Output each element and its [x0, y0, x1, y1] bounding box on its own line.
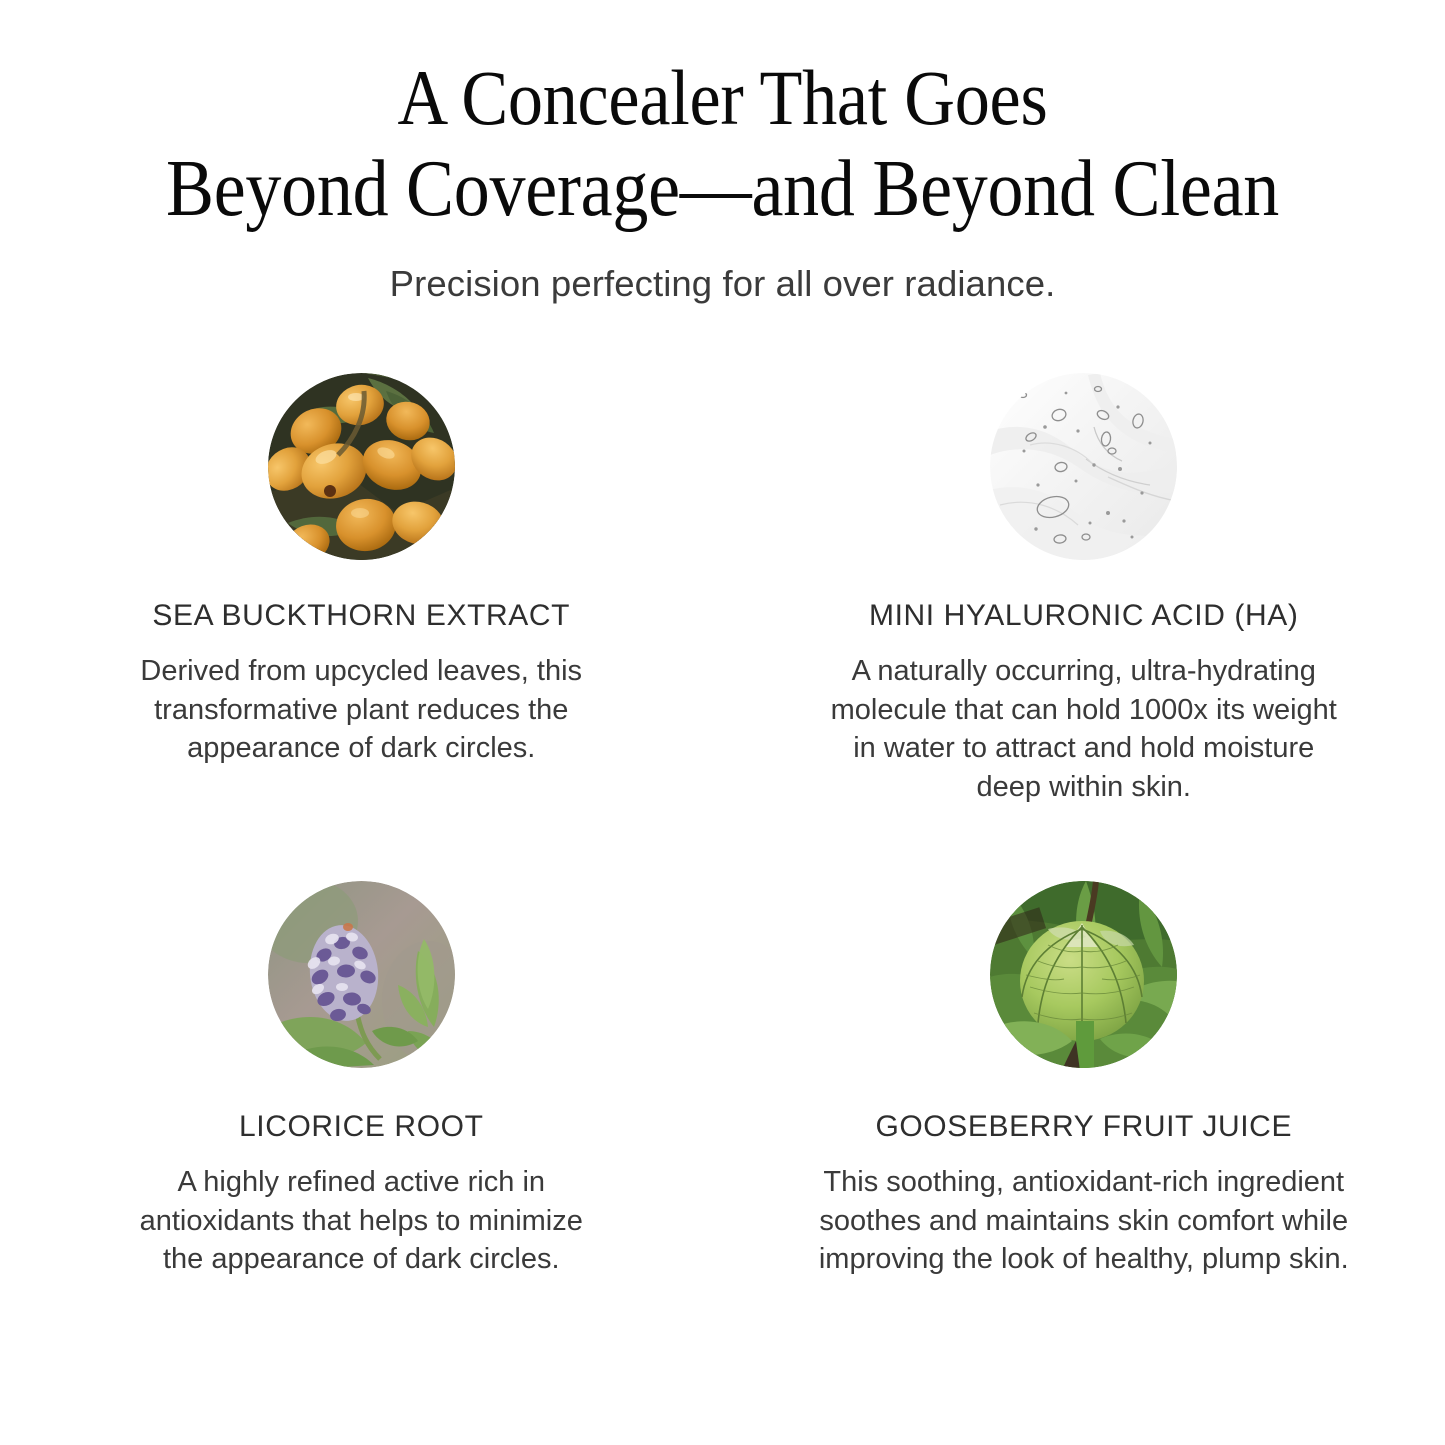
ingredient-description: A highly refined active rich in antioxid…	[126, 1144, 596, 1279]
page-title: A Concealer That Goes Beyond Coverage—an…	[72, 52, 1373, 237]
sea-buckthorn-berries-photo-icon	[268, 373, 455, 560]
page-subtitle: Precision perfecting for all over radian…	[0, 237, 1445, 305]
headline-line-2: Beyond Coverage—and Beyond Clean	[72, 143, 1373, 237]
ingredient-benefits-page: A Concealer That Goes Beyond Coverage—an…	[0, 0, 1445, 1445]
ingredient-title: SEA BUCKTHORN EXTRACT	[152, 560, 570, 633]
ingredient-card-sea-buckthorn: SEA BUCKTHORN EXTRACT Derived from upcyc…	[0, 373, 723, 881]
licorice-root-flower-photo-icon	[268, 881, 455, 1068]
ingredient-description: This soothing, antioxidant-rich ingredie…	[811, 1144, 1356, 1279]
gooseberry-fruit-photo-icon	[990, 881, 1177, 1068]
ingredient-card-hyaluronic-acid: MINI HYALURONIC ACID (HA) A naturally oc…	[723, 373, 1445, 881]
ingredient-grid: SEA BUCKTHORN EXTRACT Derived from upcyc…	[0, 373, 1445, 1279]
hyaluronic-acid-gel-texture-photo-icon	[990, 373, 1177, 560]
ingredient-title: LICORICE ROOT	[239, 1068, 484, 1144]
ingredient-card-licorice-root: LICORICE ROOT A highly refined active ri…	[0, 881, 723, 1279]
ingredient-card-gooseberry: GOOSEBERRY FRUIT JUICE This soothing, an…	[723, 881, 1445, 1279]
ingredient-description: Derived from upcycled leaves, this trans…	[126, 633, 596, 768]
ingredient-description: A naturally occurring, ultra-hydrating m…	[824, 633, 1344, 806]
headline-line-1: A Concealer That Goes	[72, 52, 1373, 143]
ingredient-title: GOOSEBERRY FRUIT JUICE	[875, 1068, 1292, 1144]
page-header: A Concealer That Goes Beyond Coverage—an…	[0, 52, 1445, 305]
ingredient-title: MINI HYALURONIC ACID (HA)	[869, 560, 1298, 633]
